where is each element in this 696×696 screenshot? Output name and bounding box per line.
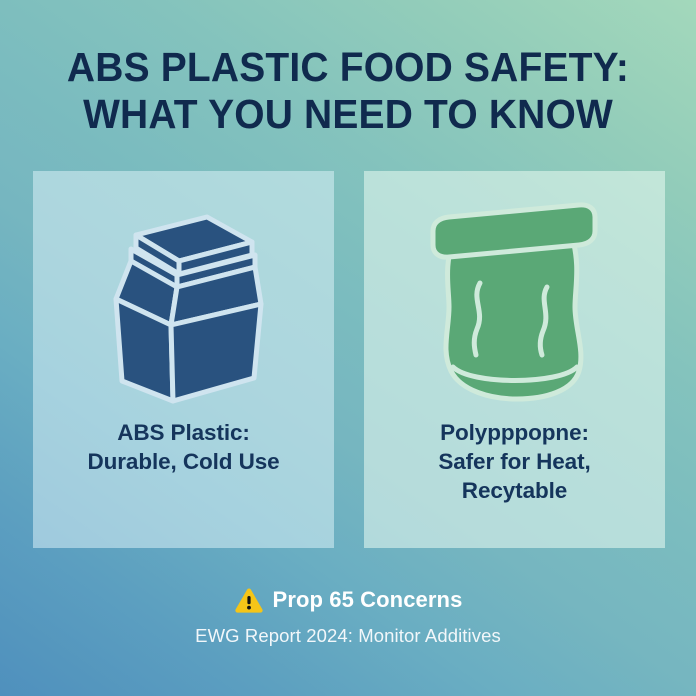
polypropylene-jar-illustration	[405, 195, 625, 410]
infographic-poster: ABS PLASTIC FOOD SAFETY: WHAT YOU NEED T…	[0, 0, 696, 696]
card-polypropylene-caption: Polypppopne: Safer for Heat, Recytable	[364, 418, 665, 505]
poster-title: ABS PLASTIC FOOD SAFETY: WHAT YOU NEED T…	[0, 44, 696, 138]
comparison-cards: ABS Plastic: Durable, Cold Use	[33, 171, 665, 548]
abs-caption-line-2: Durable, Cold Use	[33, 447, 334, 476]
pp-caption-line-1: Polypppopne:	[364, 418, 665, 447]
pp-caption-line-3: Recytable	[364, 476, 665, 505]
card-abs-plastic: ABS Plastic: Durable, Cold Use	[33, 171, 334, 548]
card-polypropylene: Polypppopne: Safer for Heat, Recytable	[364, 171, 665, 548]
prop65-warning-label: Prop 65 Concerns	[273, 588, 463, 612]
poster-footer: Prop 65 Concerns EWG Report 2024: Monito…	[0, 585, 696, 647]
prop65-warning: Prop 65 Concerns	[0, 585, 696, 615]
warning-triangle-icon	[234, 587, 264, 614]
title-line-2: WHAT YOU NEED TO KNOW	[17, 91, 678, 138]
card-abs-caption: ABS Plastic: Durable, Cold Use	[33, 418, 334, 476]
abs-container-icon	[89, 195, 279, 410]
footer-source-note: EWG Report 2024: Monitor Additives	[0, 625, 696, 647]
title-line-1: ABS PLASTIC FOOD SAFETY:	[17, 44, 678, 91]
abs-container-illustration	[74, 195, 294, 410]
abs-caption-line-1: ABS Plastic:	[33, 418, 334, 447]
polypropylene-jar-icon	[427, 195, 602, 410]
pp-caption-line-2: Safer for Heat,	[364, 447, 665, 476]
